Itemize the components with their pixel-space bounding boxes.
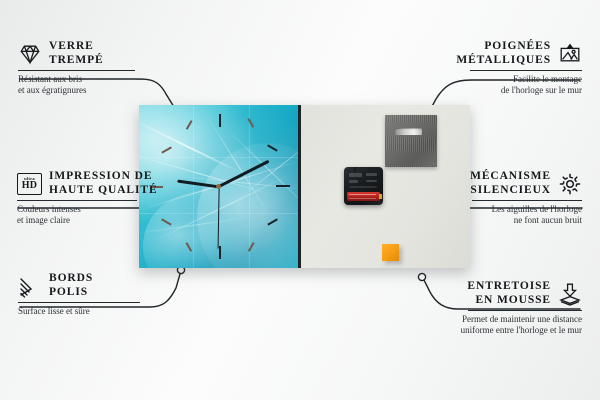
callout-header: POIGNÉESMÉTALLIQUES <box>444 40 582 67</box>
foam-spacer <box>382 244 399 261</box>
callout-poignees-metalliques: POIGNÉESMÉTALLIQUES Facilite le montaged… <box>444 40 582 96</box>
product-image <box>139 105 473 268</box>
hour-tick <box>248 242 254 251</box>
battery-terminal <box>379 194 382 199</box>
callout-mecanisme-silencieux: MÉCANISMESILENCIEUX Les aiguilles de l'h… <box>448 170 582 226</box>
clock-mechanism <box>344 167 383 205</box>
hour-tick <box>186 242 192 251</box>
callout-rule <box>18 70 135 71</box>
ultra-hd-icon-main-text: HD <box>22 181 38 191</box>
second-hand <box>217 186 219 248</box>
hour-tick <box>248 118 254 127</box>
gear-icon <box>558 172 582 196</box>
callout-description: Permet de maintenir une distanceuniforme… <box>444 314 582 336</box>
callout-header: BORDSPOLIS <box>18 272 153 299</box>
callout-impression-haute-qualite: ultra HD IMPRESSION DEHAUTE QUALITÉ Coul… <box>17 170 162 226</box>
hanger-slot <box>395 128 422 135</box>
callout-header: ENTRETOISEEN MOUSSE <box>444 280 582 307</box>
callout-title: POIGNÉESMÉTALLIQUES <box>456 40 551 67</box>
hour-tick <box>276 185 290 187</box>
callout-description: Surface lisse et sûre <box>18 306 153 317</box>
callout-title: IMPRESSION DEHAUTE QUALITÉ <box>49 170 158 197</box>
hour-tick <box>219 246 221 259</box>
hour-tick <box>161 146 171 153</box>
hour-tick <box>267 218 277 225</box>
diamond-icon <box>18 42 42 66</box>
callout-description: Facilite le montagede l'horloge sur le m… <box>444 74 582 96</box>
callout-rule <box>17 200 137 201</box>
callout-header: VERRETREMPÉ <box>18 40 148 67</box>
hour-tick <box>219 114 221 127</box>
battery-band <box>349 194 376 195</box>
callout-description: Les aiguilles de l'horlogene font aucun … <box>448 204 582 226</box>
mechanism-detail <box>349 180 358 183</box>
mechanism-detail <box>349 186 377 188</box>
callout-title: ENTRETOISEEN MOUSSE <box>467 280 551 307</box>
callout-description: Couleurs intenseset image claire <box>17 204 162 226</box>
clock-dial <box>139 105 298 268</box>
battery-band <box>349 198 376 199</box>
hour-hand <box>177 179 219 188</box>
mechanism-hanger-loop <box>354 167 371 172</box>
hour-tick <box>267 144 277 151</box>
callout-verre-trempe: VERRETREMPÉ Résistant aux briset aux égr… <box>18 40 148 96</box>
polished-edges-icon <box>18 274 42 298</box>
minute-hand <box>218 160 269 188</box>
infographic-canvas: VERRETREMPÉ Résistant aux briset aux égr… <box>0 0 600 400</box>
hour-tick <box>161 218 171 225</box>
metal-hanger-plate <box>385 115 437 167</box>
callout-rule <box>18 302 140 303</box>
mechanism-detail <box>366 173 377 176</box>
clock-back-view <box>301 105 470 268</box>
callout-header: MÉCANISMESILENCIEUX <box>448 170 582 197</box>
hands-center-cap <box>216 184 221 189</box>
mechanism-detail <box>349 173 362 177</box>
foam-spacer-icon <box>558 282 582 306</box>
callout-title: BORDSPOLIS <box>49 272 93 299</box>
callout-entretoise-en-mousse: ENTRETOISEEN MOUSSE Permet de maintenir … <box>444 280 582 336</box>
callout-description: Résistant aux briset aux égratignures <box>18 74 148 96</box>
battery <box>347 192 380 201</box>
hanging-frame-icon <box>558 42 582 66</box>
connector-dot-entretoise <box>418 273 425 280</box>
hour-tick <box>186 120 192 129</box>
mechanism-detail <box>366 180 377 182</box>
callout-rule <box>470 70 582 71</box>
callout-header: ultra HD IMPRESSION DEHAUTE QUALITÉ <box>17 170 162 197</box>
callout-title: VERRETREMPÉ <box>49 40 104 67</box>
clock-front-view <box>139 105 301 268</box>
callout-rule <box>468 310 582 311</box>
ultra-hd-icon: ultra HD <box>17 173 42 195</box>
callout-bords-polis: BORDSPOLIS Surface lisse et sûre <box>18 272 153 317</box>
callout-title: MÉCANISMESILENCIEUX <box>470 170 551 197</box>
callout-rule <box>472 200 582 201</box>
